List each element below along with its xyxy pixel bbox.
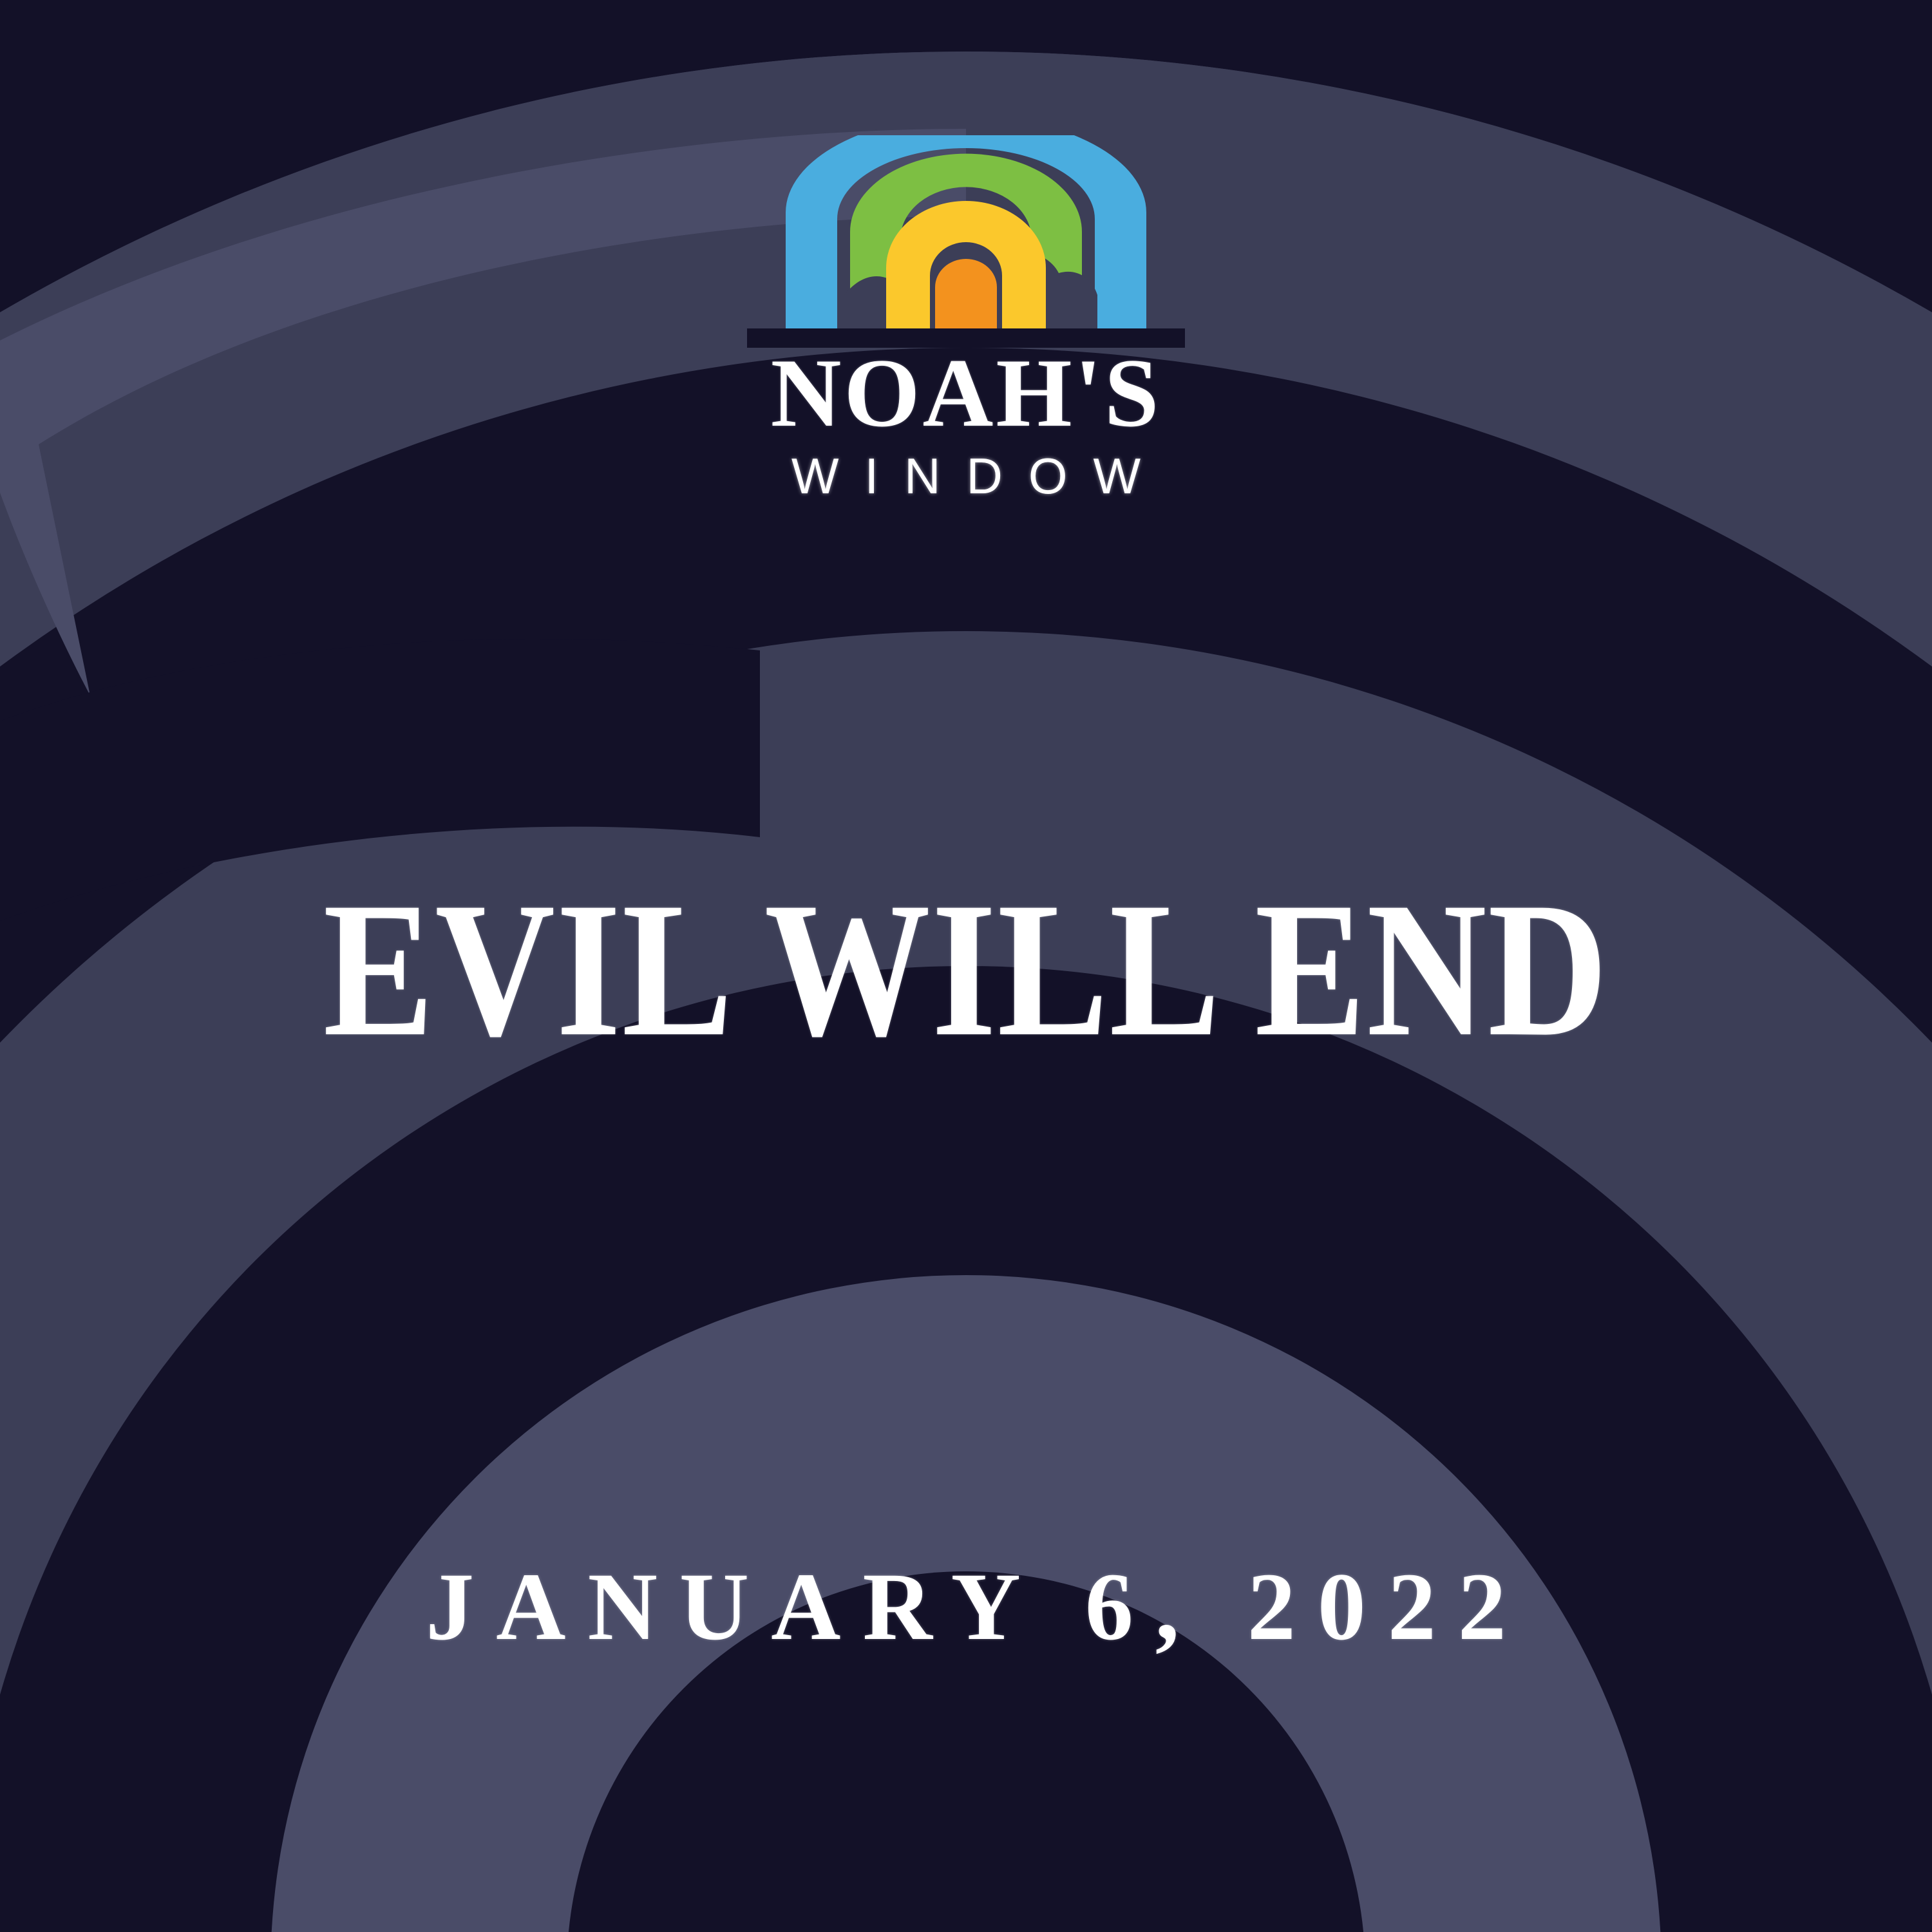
poster-canvas: NOAH'S WINDOW EVIL WILL END JANUARY 6, 2… bbox=[0, 0, 1932, 1932]
rainbow-arch-sunrise-icon bbox=[747, 135, 1185, 348]
logo-sun-orange bbox=[935, 259, 997, 328]
brand-wordmark: NOAH'S WINDOW bbox=[0, 344, 1932, 501]
brand-name-secondary: WINDOW bbox=[0, 451, 1932, 501]
brand-name-primary: NOAH'S bbox=[0, 344, 1932, 442]
logo-leg-blue-left bbox=[786, 285, 837, 328]
poster-event-date: JANUARY 6, 2022 bbox=[0, 1558, 1932, 1655]
poster-headline: EVIL WILL END bbox=[135, 873, 1797, 1066]
logo-leg-blue-right bbox=[1095, 285, 1146, 328]
brand-logo: NOAH'S WINDOW bbox=[0, 135, 1932, 501]
